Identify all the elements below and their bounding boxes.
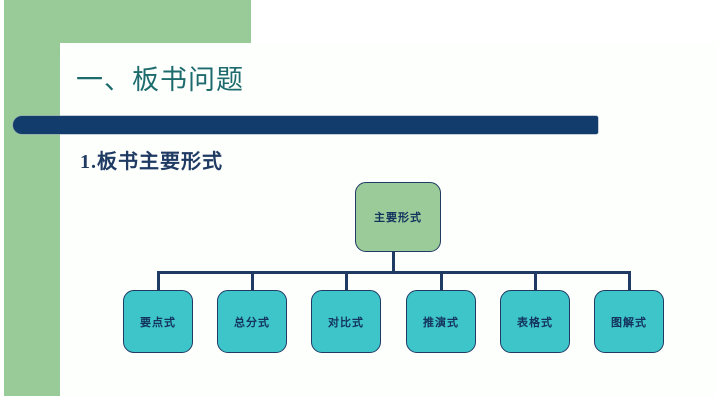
page-title: 一、板书问题 xyxy=(76,60,244,100)
diagram-node-leaf-1[interactable]: 要点式 xyxy=(123,290,193,353)
diagram-node-leaf-3[interactable]: 对比式 xyxy=(311,290,381,353)
connector-root-vertical xyxy=(392,252,395,273)
diagram-node-leaf-6[interactable]: 图解式 xyxy=(594,290,664,353)
connector-drop-3 xyxy=(345,271,348,291)
diagram-node-leaf-4[interactable]: 推演式 xyxy=(406,290,476,353)
title-underline-bar xyxy=(13,116,598,134)
connector-drop-5 xyxy=(534,271,537,291)
slide-canvas: 一、板书问题 1.板书主要形式 主要形式 要点式 总分式 对比式 推演式 表格式… xyxy=(0,0,720,404)
diagram-node-leaf-5[interactable]: 表格式 xyxy=(500,290,570,353)
diagram-node-root[interactable]: 主要形式 xyxy=(355,182,441,252)
green-side-panel xyxy=(4,0,60,396)
section-subtitle: 1.板书主要形式 xyxy=(80,148,223,176)
connector-drop-2 xyxy=(251,271,254,291)
connector-drop-6 xyxy=(628,271,631,291)
connector-drop-1 xyxy=(157,271,160,291)
bottom-band xyxy=(0,396,720,404)
connector-horizontal-bus xyxy=(157,271,629,274)
connector-drop-4 xyxy=(440,271,443,291)
green-top-block xyxy=(4,0,251,43)
diagram-node-leaf-2[interactable]: 总分式 xyxy=(217,290,287,353)
